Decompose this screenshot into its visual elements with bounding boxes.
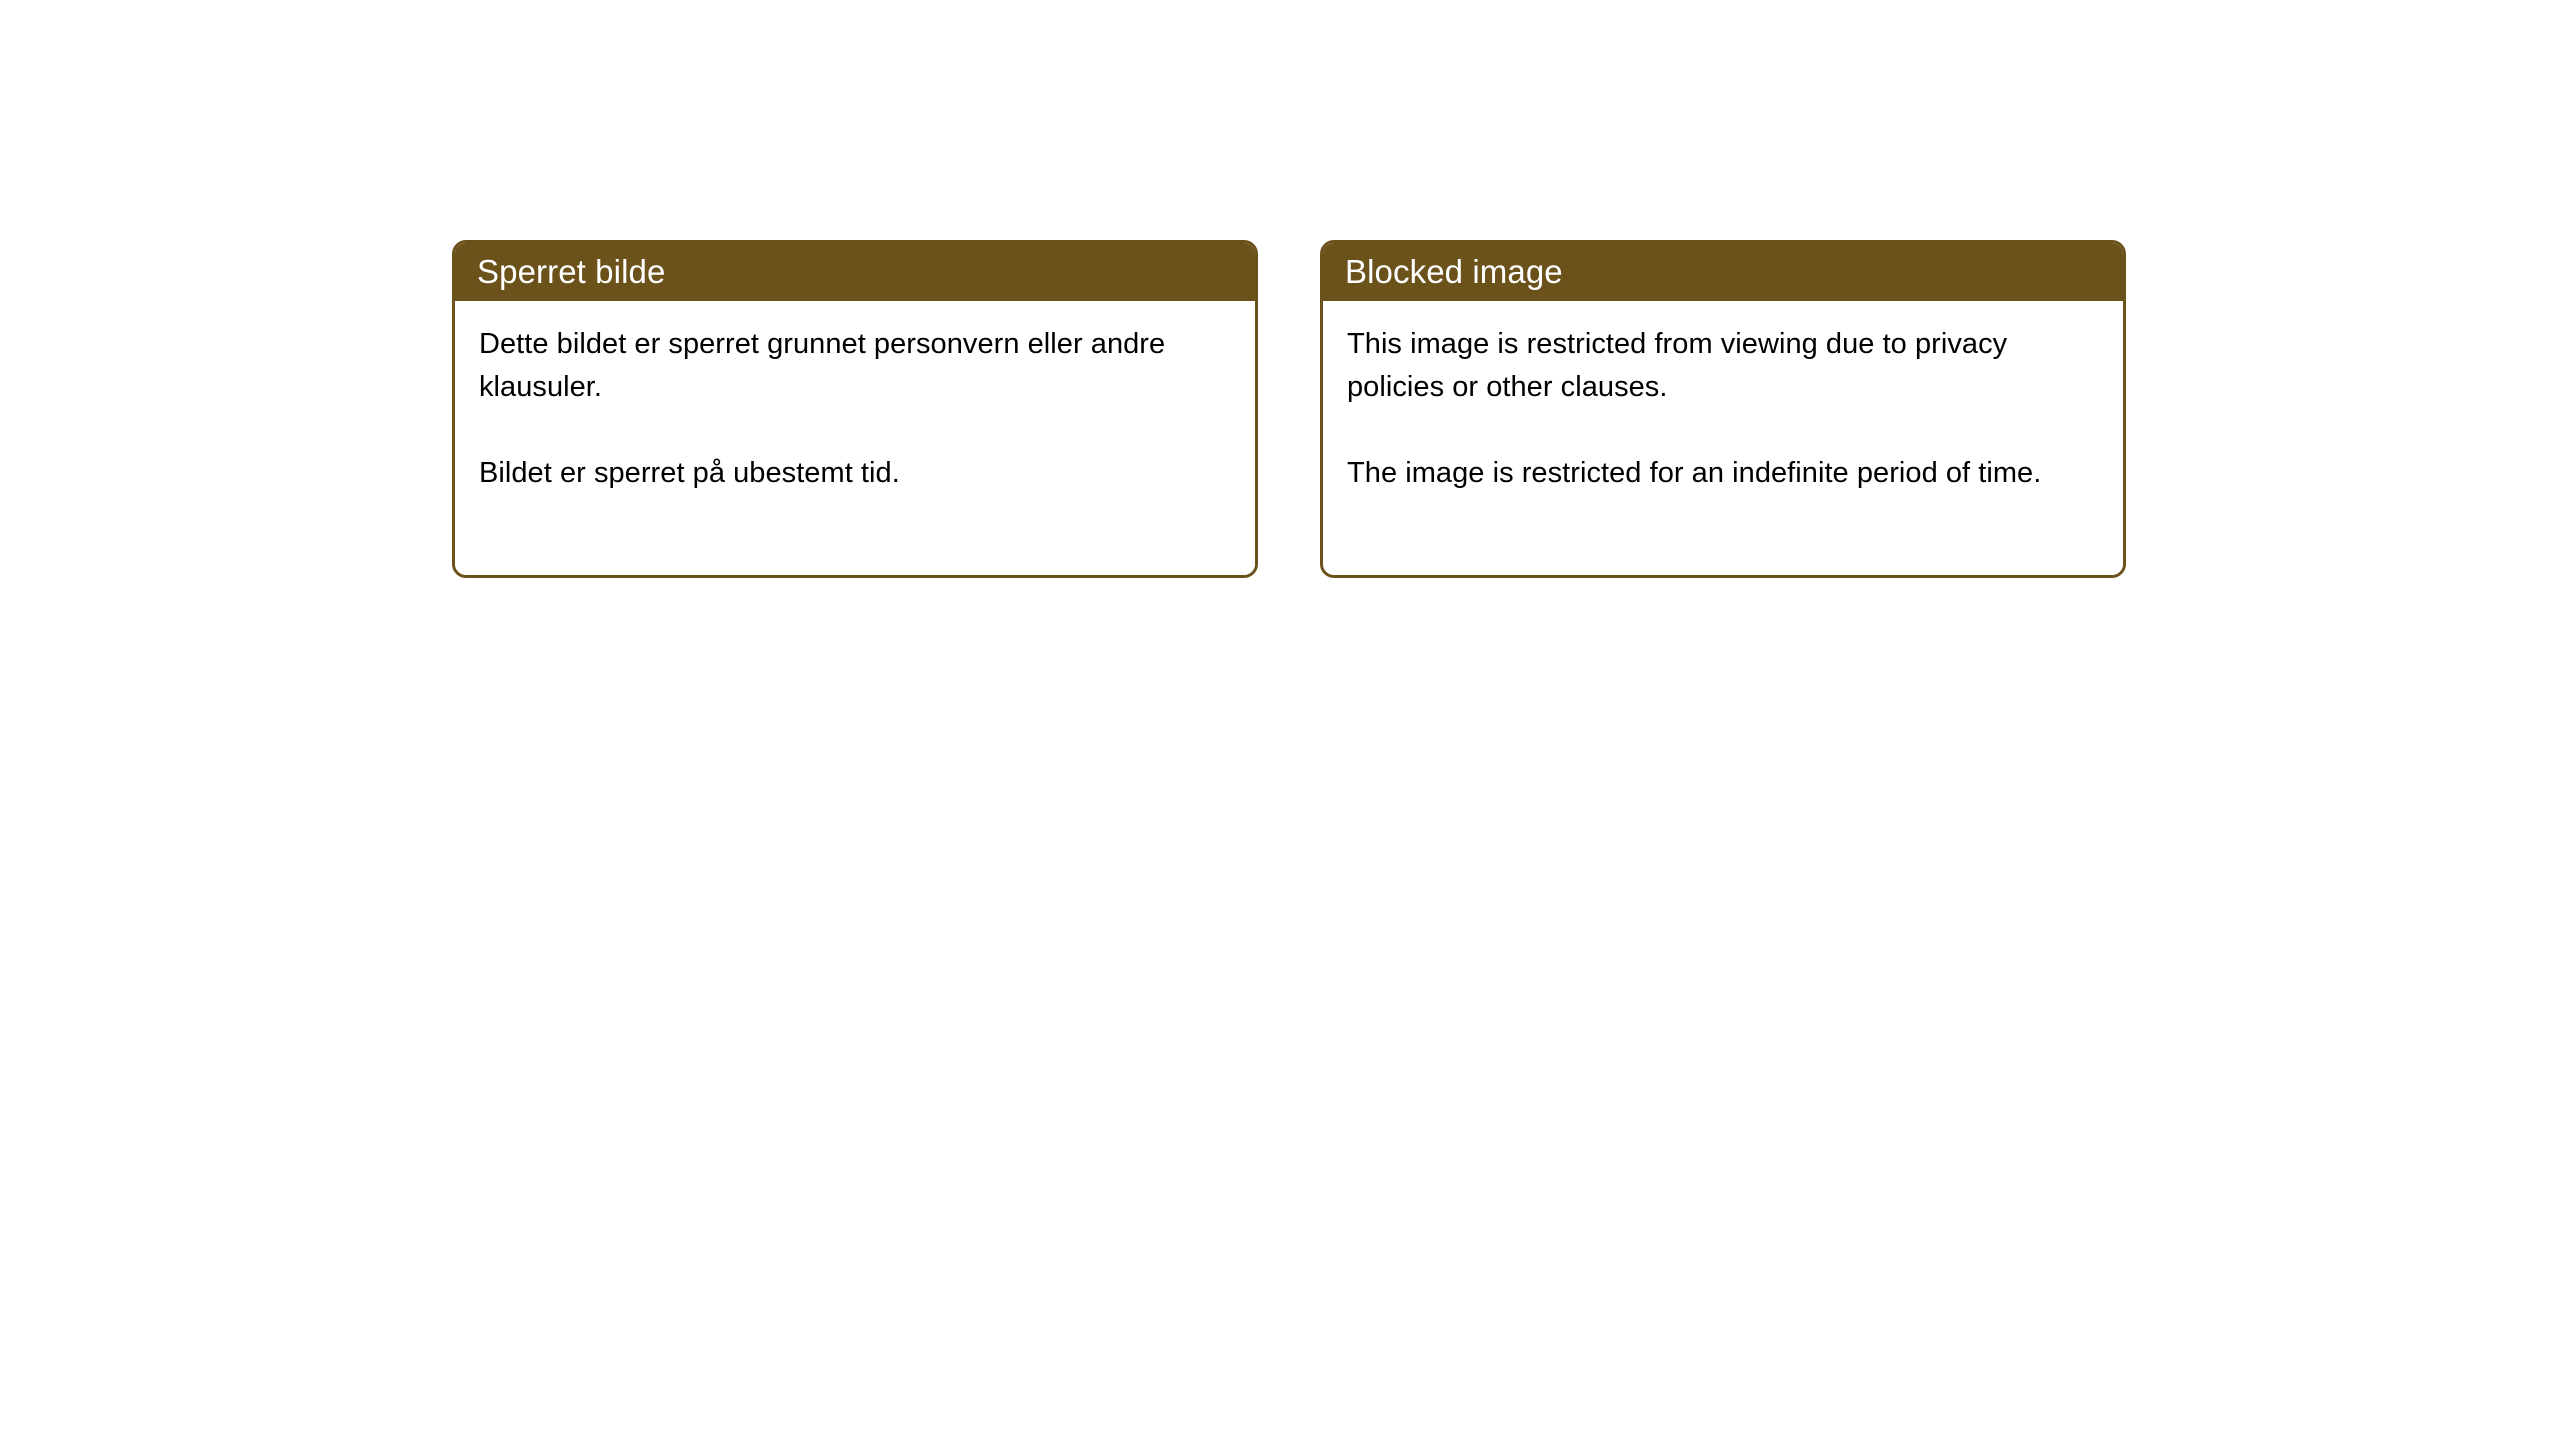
card-body-norwegian: Dette bildet er sperret grunnet personve… <box>455 301 1255 575</box>
page-root: Sperret bilde Dette bildet er sperret gr… <box>0 0 2560 1440</box>
blocked-image-notice-group: Sperret bilde Dette bildet er sperret gr… <box>452 240 2126 578</box>
blocked-image-card-norwegian: Sperret bilde Dette bildet er sperret gr… <box>452 240 1258 578</box>
card-title-english: Blocked image <box>1345 253 1563 291</box>
card-paragraph-secondary-norwegian: Bildet er sperret på ubestemt tid. <box>479 452 1229 495</box>
blocked-image-card-english: Blocked image This image is restricted f… <box>1320 240 2126 578</box>
card-title-norwegian: Sperret bilde <box>477 253 665 291</box>
card-body-english: This image is restricted from viewing du… <box>1323 301 2123 575</box>
card-header-norwegian: Sperret bilde <box>455 243 1255 301</box>
card-paragraph-primary-english: This image is restricted from viewing du… <box>1347 323 2097 409</box>
card-paragraph-primary-norwegian: Dette bildet er sperret grunnet personve… <box>479 323 1229 409</box>
card-header-english: Blocked image <box>1323 243 2123 301</box>
card-paragraph-secondary-english: The image is restricted for an indefinit… <box>1347 452 2097 495</box>
